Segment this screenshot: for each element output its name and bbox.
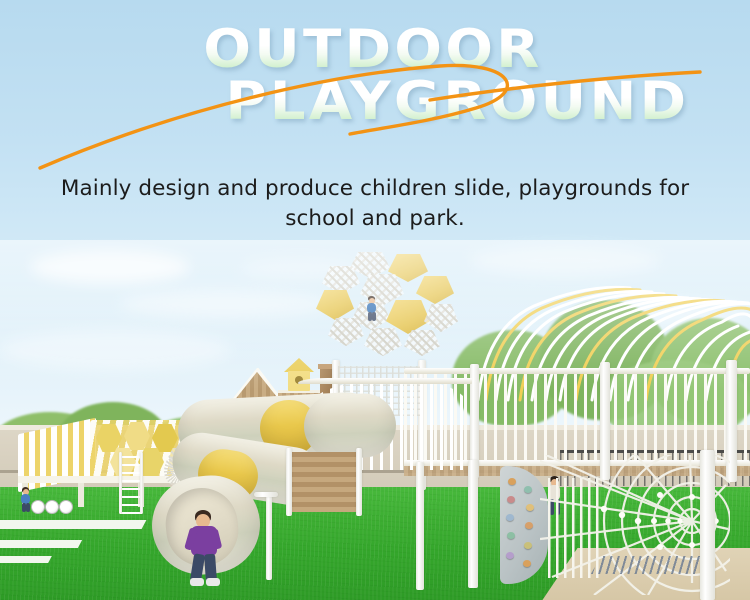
soccer-ball-decor bbox=[59, 500, 73, 514]
rope-bridge bbox=[591, 556, 711, 574]
climbing-hold bbox=[507, 496, 515, 503]
wooden-stairs bbox=[290, 452, 358, 512]
climbing-hold bbox=[523, 560, 531, 567]
front-post bbox=[468, 460, 478, 588]
ladder-rail bbox=[119, 452, 122, 514]
turf-marking bbox=[0, 520, 146, 529]
vertical-ladder bbox=[120, 452, 142, 514]
cloud bbox=[30, 250, 190, 284]
tower-railing-top bbox=[298, 378, 472, 384]
climbing-hold bbox=[506, 514, 514, 521]
stair-post bbox=[286, 448, 292, 516]
cloud bbox=[120, 290, 330, 318]
soccer-ball-climbing-tower bbox=[312, 252, 458, 372]
cloud bbox=[470, 246, 660, 276]
front-post bbox=[416, 462, 424, 590]
outdoor-playground-banner: OUTDOOR PLAYGROUND Mainly design and pro… bbox=[0, 0, 750, 600]
ladder-rail bbox=[140, 452, 143, 514]
playground-photo bbox=[0, 0, 750, 600]
cloud bbox=[0, 330, 230, 370]
railing-top-rail bbox=[404, 368, 750, 374]
climbing-hold bbox=[507, 532, 515, 539]
soccer-ball-decor bbox=[31, 500, 45, 514]
climbing-hold bbox=[526, 504, 534, 511]
climbing-hold bbox=[506, 552, 514, 559]
turf-marking bbox=[0, 540, 82, 548]
soccer-ball-decor bbox=[45, 500, 59, 514]
climbing-hold bbox=[525, 522, 533, 529]
climbing-hold bbox=[524, 542, 532, 549]
turf-marking bbox=[0, 556, 52, 563]
climbing-hold bbox=[524, 486, 532, 493]
child-on-slide bbox=[186, 510, 232, 586]
child-in-ball-tower bbox=[366, 296, 378, 322]
stair-post bbox=[356, 448, 362, 516]
child-on-left-deck bbox=[20, 487, 32, 513]
climbing-hold bbox=[508, 478, 516, 485]
front-post bbox=[700, 450, 715, 600]
